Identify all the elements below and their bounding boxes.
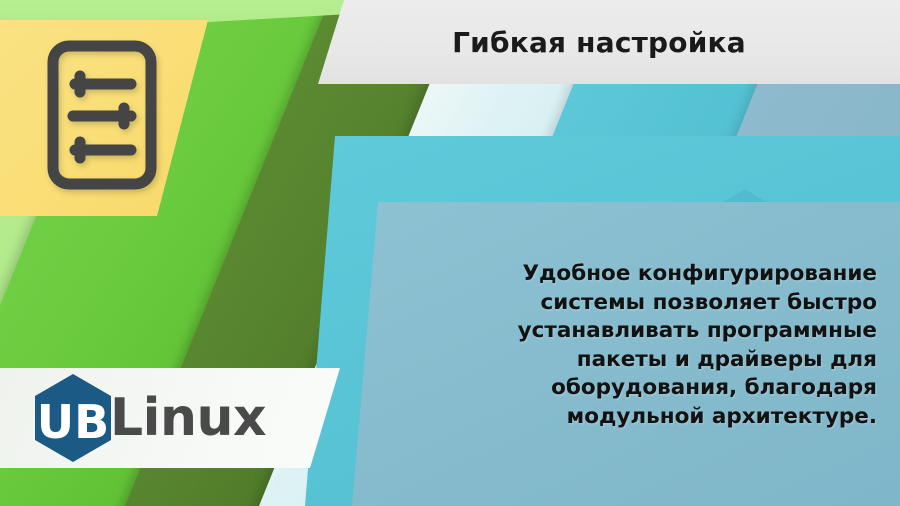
- page-title: Гибкая настройка: [378, 0, 900, 84]
- slide-canvas: Гибкая настройка UB Удобное конфигуриров…: [0, 0, 900, 506]
- logo-mark-text: UB: [37, 395, 109, 449]
- logo-wordmark: Linux: [110, 392, 266, 444]
- body-text: Удобное конфигурирование системы позволя…: [432, 260, 877, 432]
- settings-sliders-icon: [47, 40, 157, 190]
- brand-logo: UB Linux: [30, 372, 266, 464]
- title-bar: Гибкая настройка: [318, 0, 900, 84]
- hexagon-badge-icon: UB: [30, 372, 116, 464]
- content-panel-inner: Удобное конфигурирование системы позволя…: [352, 202, 900, 506]
